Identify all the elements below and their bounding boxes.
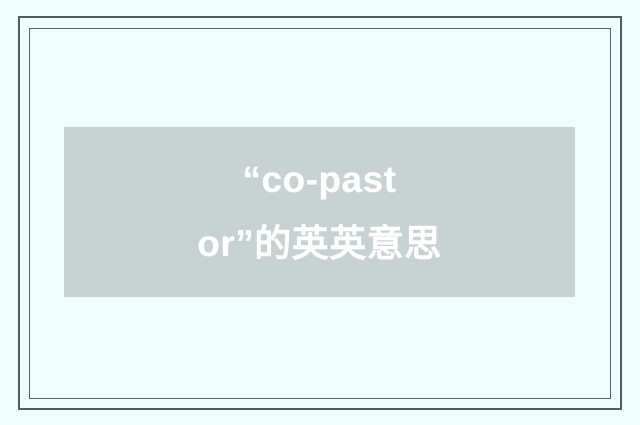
headline-banner: “co-past or”的英英意思 [64, 127, 575, 297]
headline-text: “co-past or”的英英意思 [187, 148, 452, 276]
image-canvas: “co-past or”的英英意思 [0, 0, 640, 425]
